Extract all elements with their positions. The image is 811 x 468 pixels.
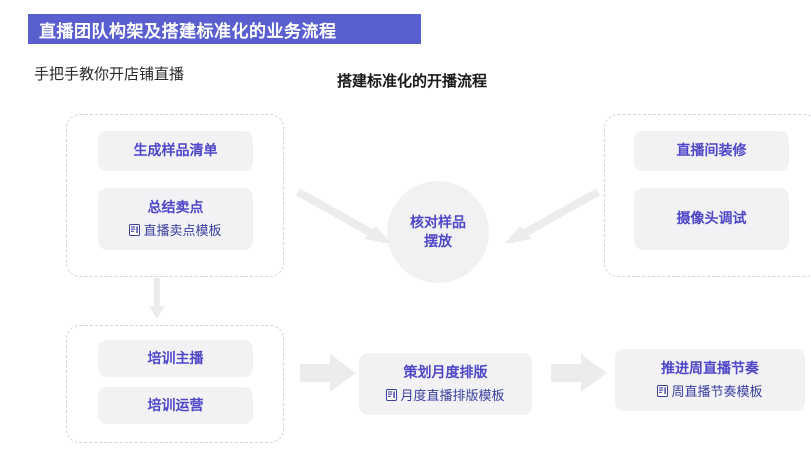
node-weekly-rhythm-label: 推进周直播节奏 xyxy=(661,360,759,378)
node-monthly-plan[interactable]: 策划月度排版 月度直播排版模板 xyxy=(359,353,532,415)
node-train-host-label: 培训主播 xyxy=(148,350,204,368)
node-monthly-plan-label: 策划月度排版 xyxy=(404,364,488,382)
node-weekly-rhythm[interactable]: 推进周直播节奏 周直播节奏模板 xyxy=(615,349,805,411)
arrow-down-left-icon xyxy=(146,278,168,322)
slide-subtitle: 手把手教你开店铺直播 xyxy=(34,63,184,84)
node-selling-points-template[interactable]: 直播卖点模板 xyxy=(129,220,221,239)
node-selling-points-template-label: 直播卖点模板 xyxy=(143,220,221,239)
node-check-line-2: 摆放 xyxy=(424,233,452,249)
node-camera-test-label: 摄像头调试 xyxy=(677,210,747,228)
node-sample-list[interactable]: 生成样品清单 xyxy=(98,131,253,171)
arrow-right-to-center-icon xyxy=(494,186,600,252)
arrow-training-to-plan-icon xyxy=(300,352,358,394)
arrow-left-to-center-icon xyxy=(296,186,400,252)
document-template-icon xyxy=(657,385,668,397)
slide-canvas: 直播团队构架及搭建标准化的业务流程 手把手教你开店铺直播 搭建标准化的开播流程 … xyxy=(0,0,811,468)
node-check-sample-placement-label: 核对样品 摆放 xyxy=(410,213,466,251)
node-selling-points-label: 总结卖点 xyxy=(148,199,204,217)
node-train-host[interactable]: 培训主播 xyxy=(98,340,253,377)
node-studio-decor[interactable]: 直播间装修 xyxy=(634,131,789,171)
node-studio-decor-label: 直播间装修 xyxy=(677,142,747,160)
node-monthly-plan-template[interactable]: 月度直播排版模板 xyxy=(386,385,504,404)
node-sample-list-label: 生成样品清单 xyxy=(134,142,218,160)
node-check-line-1: 核对样品 xyxy=(410,214,466,230)
document-template-icon xyxy=(386,389,397,401)
node-camera-test[interactable]: 摄像头调试 xyxy=(634,188,789,250)
slide-title-bar: 直播团队构架及搭建标准化的业务流程 xyxy=(28,14,421,44)
document-template-icon xyxy=(129,224,140,236)
node-weekly-rhythm-template[interactable]: 周直播节奏模板 xyxy=(657,381,762,400)
node-weekly-rhythm-template-label: 周直播节奏模板 xyxy=(671,381,762,400)
node-selling-points[interactable]: 总结卖点 直播卖点模板 xyxy=(98,188,253,250)
node-check-sample-placement[interactable]: 核对样品 摆放 xyxy=(387,181,489,283)
section-title: 搭建标准化的开播流程 xyxy=(337,70,487,91)
page-title: 直播团队构架及搭建标准化的业务流程 xyxy=(28,17,337,42)
node-train-ops[interactable]: 培训运营 xyxy=(98,387,253,424)
arrow-plan-to-weekly-icon xyxy=(551,352,609,394)
node-train-ops-label: 培训运营 xyxy=(148,397,204,415)
node-monthly-plan-template-label: 月度直播排版模板 xyxy=(400,385,504,404)
